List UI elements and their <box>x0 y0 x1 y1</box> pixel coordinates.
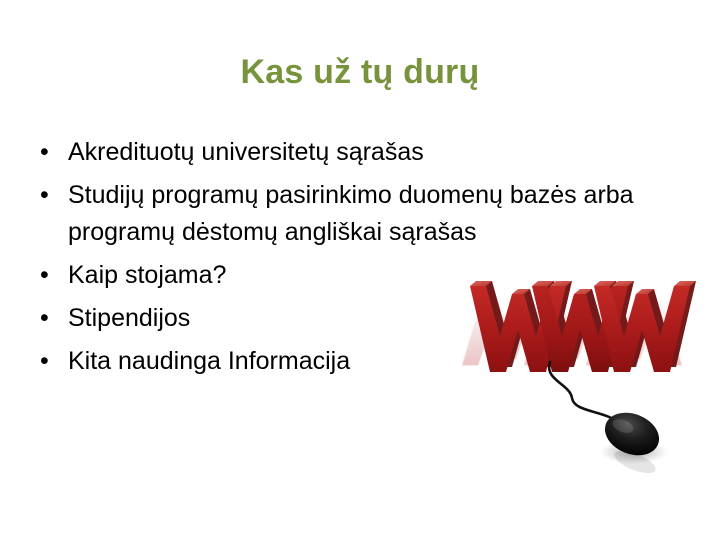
computer-mouse-icon <box>452 276 702 476</box>
page-title: Kas už tų durų <box>0 52 720 92</box>
bullet-point-icon: • <box>40 300 60 337</box>
list-item-label: Akredituotų universitetų sąrašas <box>68 134 668 171</box>
bullet-point-icon: • <box>40 343 60 380</box>
list-item-label: Studijų programų pasirinkimo duomenų baz… <box>68 177 668 251</box>
bullet-point-icon: • <box>40 257 60 294</box>
list-item: • Akredituotų universitetų sąrašas <box>28 134 668 171</box>
bullet-point-icon: • <box>40 134 60 171</box>
bullet-point-icon: • <box>40 177 60 214</box>
www-internet-image <box>452 276 702 476</box>
list-item: • Studijų programų pasirinkimo duomenų b… <box>28 177 668 251</box>
slide-canvas: Kas už tų durų • Akredituotų universitet… <box>0 0 720 540</box>
www-stage <box>452 276 702 476</box>
